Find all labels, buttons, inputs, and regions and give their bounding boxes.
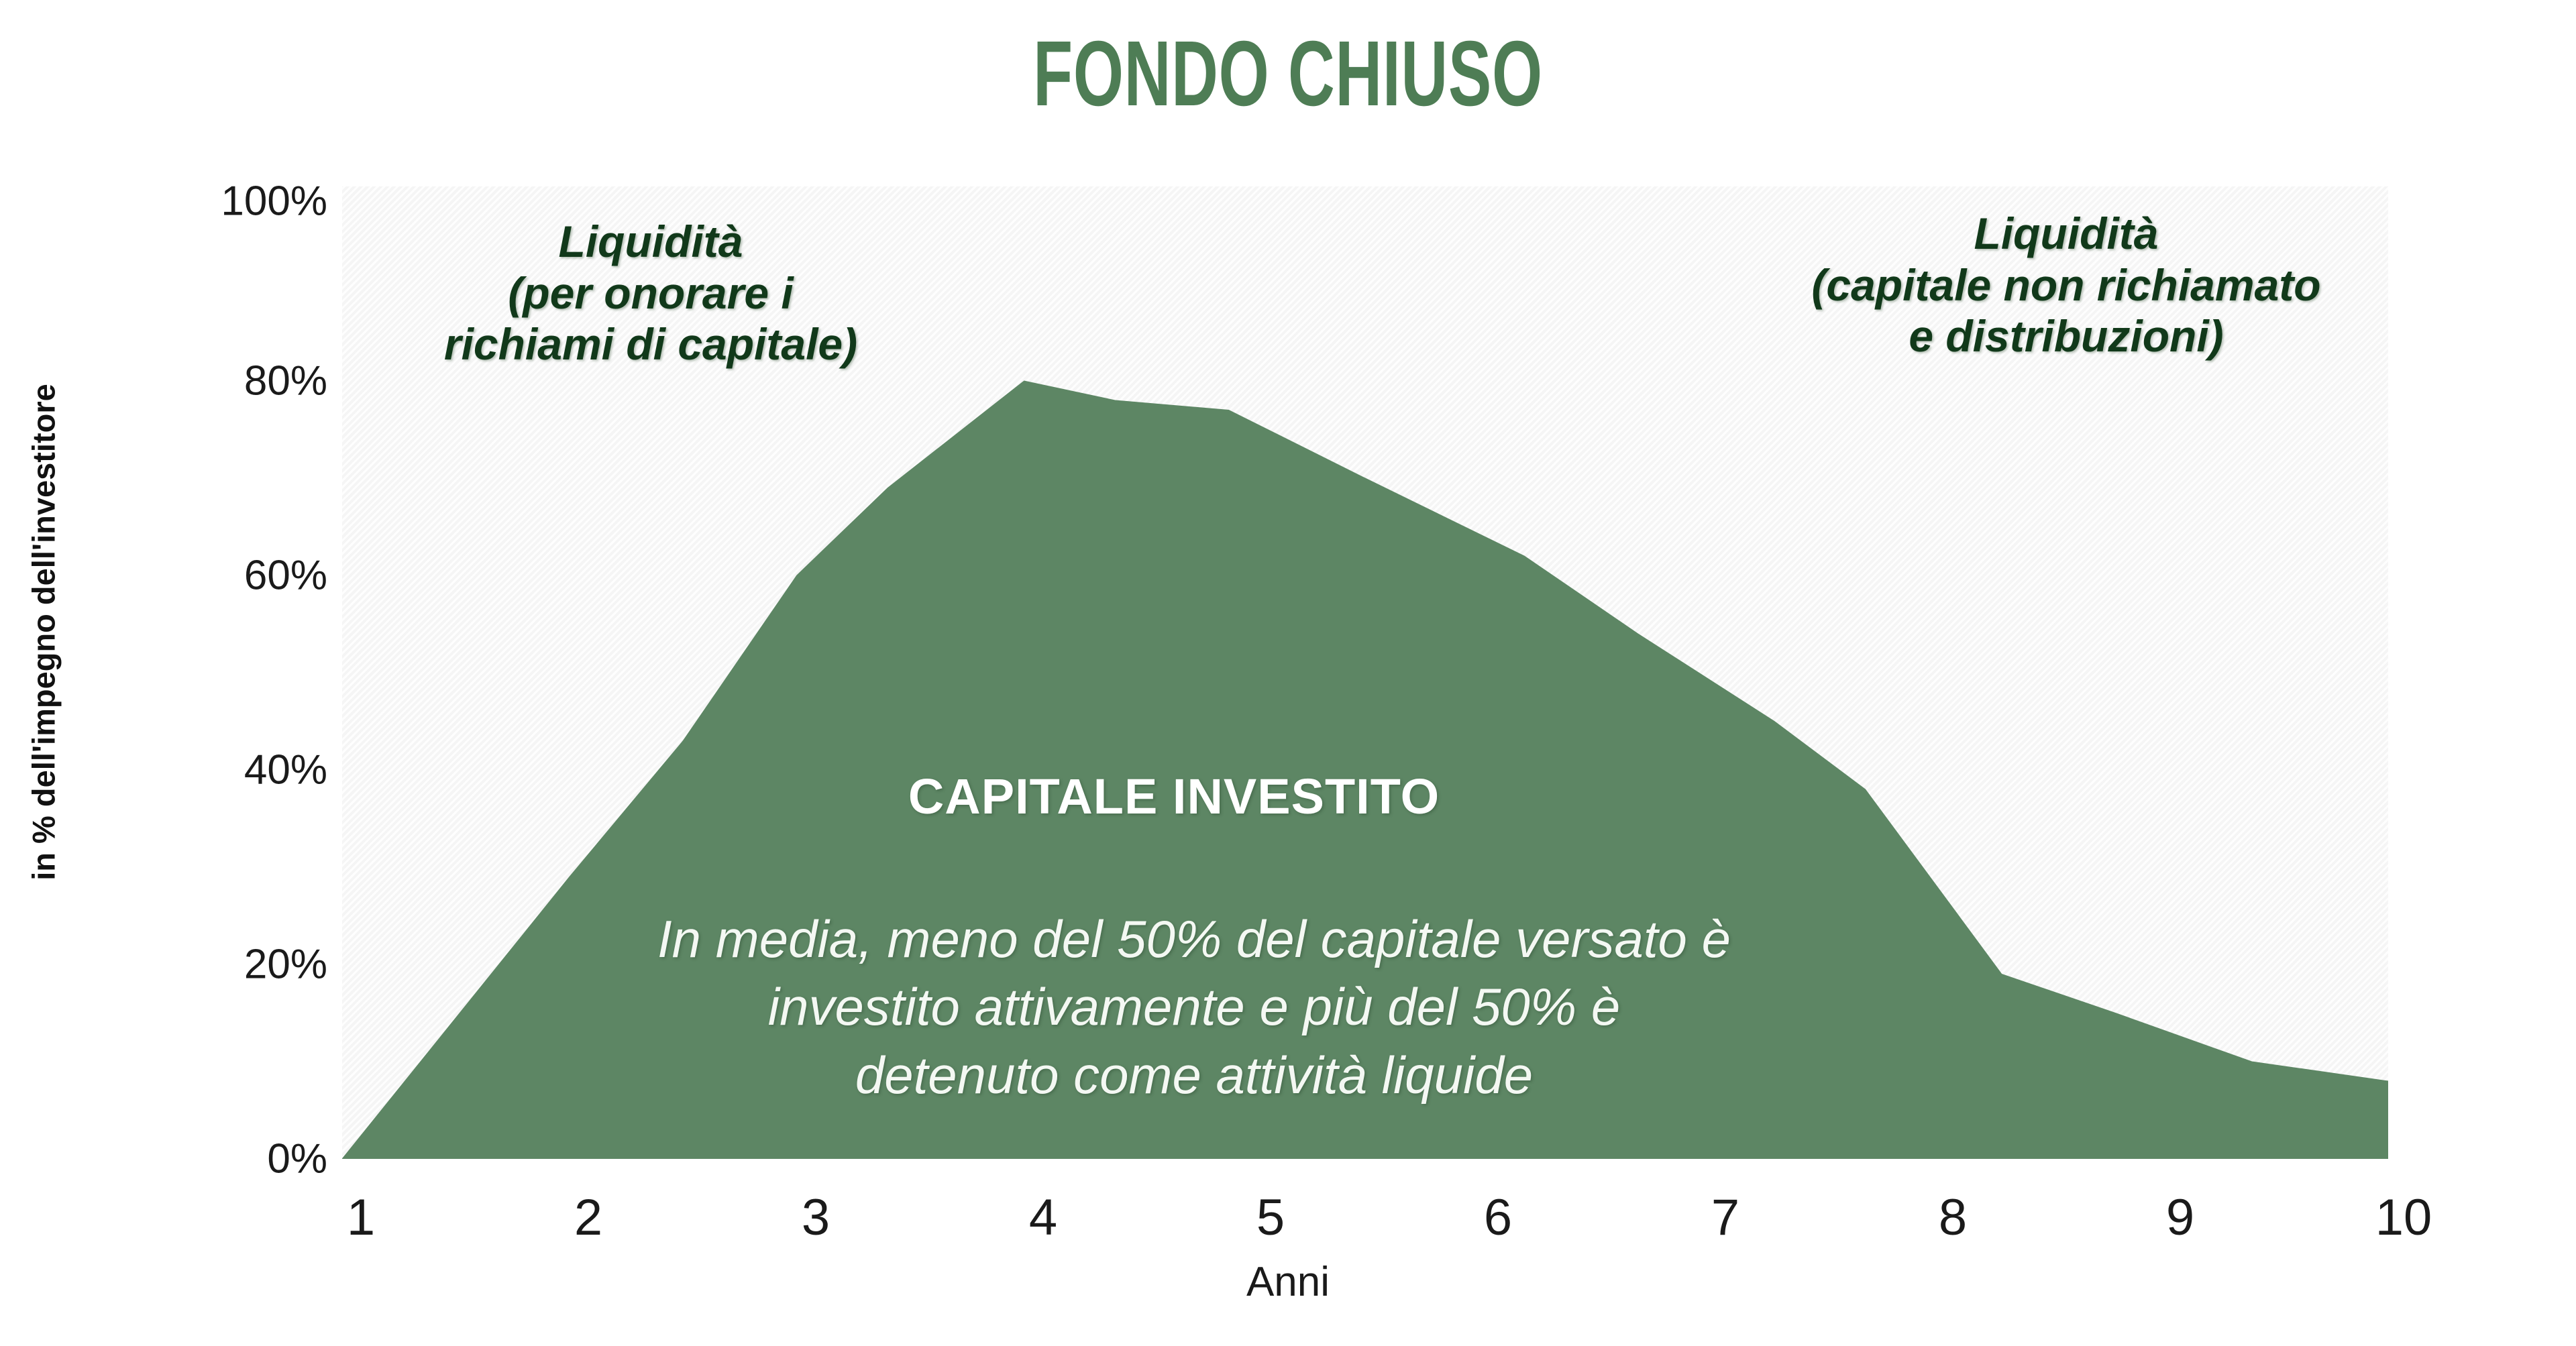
page-title: FONDO CHIUSO <box>386 25 2190 123</box>
x-tick-6: 6 <box>1417 1188 1578 1247</box>
annotation-capitale-investito-description: In media, meno del 50% del capitale vers… <box>523 905 1865 1109</box>
x-tick-7: 7 <box>1645 1188 1806 1247</box>
y-tick-0: 0% <box>46 1135 327 1183</box>
x-tick-3: 3 <box>735 1188 896 1247</box>
x-tick-8: 8 <box>1872 1188 2033 1247</box>
x-tick-5: 5 <box>1190 1188 1351 1247</box>
y-tick-80: 80% <box>46 357 327 405</box>
x-tick-1: 1 <box>280 1188 441 1247</box>
annotation-capitale-investito: CAPITALE INVESTITO <box>671 768 1677 825</box>
y-tick-60: 60% <box>46 552 327 600</box>
annotation-liquidity-right: Liquidità (capitale non richiamato e dis… <box>1704 208 2428 362</box>
y-axis-label: in % dell'impegno dell'investitore <box>25 331 62 934</box>
x-tick-9: 9 <box>2100 1188 2261 1247</box>
x-tick-4: 4 <box>963 1188 1124 1247</box>
x-tick-2: 2 <box>508 1188 669 1247</box>
x-tick-10: 10 <box>2323 1188 2484 1247</box>
annotation-liquidity-left: Liquidità (per onorare i richiami di cap… <box>315 216 986 370</box>
y-tick-20: 20% <box>46 941 327 989</box>
y-tick-40: 40% <box>46 746 327 794</box>
y-tick-100: 100% <box>46 178 327 225</box>
x-axis-label: Anni <box>0 1258 2576 1306</box>
